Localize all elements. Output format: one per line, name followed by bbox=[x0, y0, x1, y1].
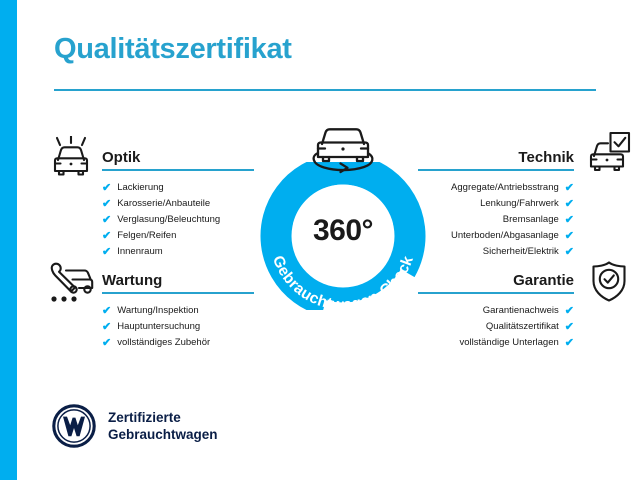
check-icon: ✔ bbox=[565, 215, 574, 226]
list-item: Garantienachweis✔ bbox=[418, 303, 574, 319]
list-item: ✔Felgen/Reifen bbox=[102, 228, 254, 244]
check-icon: ✔ bbox=[102, 247, 111, 258]
list-item-label: Wartung/Inspektion bbox=[117, 303, 199, 319]
list-item-label: Sicherheit/Elektrik bbox=[483, 244, 559, 260]
section-title-garantie: Garantie bbox=[513, 272, 574, 289]
list-item-label: Aggregate/Antriebsstrang bbox=[451, 180, 559, 196]
checklist-wartung: ✔Wartung/Inspektion ✔Hauptuntersuchung ✔… bbox=[102, 303, 254, 351]
badge-center-label: 360° bbox=[255, 214, 431, 248]
footer-brand: Zertifizierte Gebrauchtwagen bbox=[52, 404, 218, 448]
title-divider bbox=[54, 89, 596, 91]
list-item-label: vollständiges Zubehör bbox=[117, 335, 210, 351]
page-title: Qualitätszertifikat bbox=[54, 34, 292, 66]
section-header: Garantie bbox=[418, 265, 574, 291]
footer-line-2: Gebrauchtwagen bbox=[108, 426, 218, 443]
section-title-optik: Optik bbox=[102, 149, 140, 166]
car-shine-icon bbox=[48, 136, 94, 185]
check-icon: ✔ bbox=[102, 215, 111, 226]
check-icon: ✔ bbox=[102, 306, 111, 317]
list-item-label: Innenraum bbox=[117, 244, 162, 260]
footer-line-1: Zertifizierte bbox=[108, 409, 218, 426]
check-icon: ✔ bbox=[102, 231, 111, 242]
section-divider bbox=[418, 292, 574, 294]
section-header: Wartung bbox=[102, 265, 254, 291]
list-item: ✔Karosserie/Anbauteile bbox=[102, 196, 254, 212]
list-item: ✔Wartung/Inspektion bbox=[102, 303, 254, 319]
list-item-label: Hauptuntersuchung bbox=[117, 319, 200, 335]
certificate-page: Qualitätszertifikat bbox=[0, 0, 640, 480]
car-rotate-360-icon bbox=[308, 122, 378, 184]
list-item-label: Karosserie/Anbauteile bbox=[117, 196, 210, 212]
checklist-optik: ✔Lackierung ✔Karosserie/Anbauteile ✔Verg… bbox=[102, 180, 254, 260]
checklist-technik: Aggregate/Antriebsstrang✔ Lenkung/Fahrwe… bbox=[418, 180, 574, 260]
section-garantie: Garantie Garantienachweis✔ Qualitätszert… bbox=[418, 265, 574, 351]
section-header: Optik bbox=[102, 142, 254, 168]
check-icon: ✔ bbox=[565, 199, 574, 210]
list-item: ✔Lackierung bbox=[102, 180, 254, 196]
list-item: ✔Innenraum bbox=[102, 244, 254, 260]
check-icon: ✔ bbox=[565, 322, 574, 333]
list-item-label: Lackierung bbox=[117, 180, 163, 196]
left-accent-stripe bbox=[0, 0, 17, 480]
check-icon: ✔ bbox=[102, 199, 111, 210]
badge-360-gebrauchtwagen-check: Gebrauchtwagen-Check 360° bbox=[255, 122, 431, 310]
check-icon: ✔ bbox=[102, 183, 111, 194]
list-item: Sicherheit/Elektrik✔ bbox=[418, 244, 574, 260]
section-header: Technik bbox=[418, 142, 574, 168]
check-icon: ✔ bbox=[565, 231, 574, 242]
list-item: ✔vollständiges Zubehör bbox=[102, 335, 254, 351]
list-item: Aggregate/Antriebsstrang✔ bbox=[418, 180, 574, 196]
list-item-label: Garantienachweis bbox=[483, 303, 559, 319]
footer-brand-text: Zertifizierte Gebrauchtwagen bbox=[108, 409, 218, 443]
section-wartung: Wartung ✔Wartung/Inspektion ✔Hauptunters… bbox=[102, 265, 254, 351]
shield-check-icon bbox=[589, 259, 629, 308]
section-divider bbox=[102, 292, 254, 294]
list-item: Qualitätszertifikat✔ bbox=[418, 319, 574, 335]
list-item-label: Unterboden/Abgasanlage bbox=[451, 228, 559, 244]
list-item-label: Felgen/Reifen bbox=[117, 228, 176, 244]
volkswagen-logo bbox=[52, 404, 96, 448]
list-item: Unterboden/Abgasanlage✔ bbox=[418, 228, 574, 244]
section-technik: Technik Aggregate/Antriebsstrang✔ Lenkun… bbox=[418, 142, 574, 260]
list-item: ✔Verglasung/Beleuchtung bbox=[102, 212, 254, 228]
section-divider bbox=[418, 169, 574, 171]
list-item-label: Qualitätszertifikat bbox=[486, 319, 559, 335]
list-item-label: Lenkung/Fahrwerk bbox=[480, 196, 559, 212]
section-optik: Optik ✔Lackierung ✔Karosserie/Anbauteile… bbox=[102, 142, 254, 260]
list-item: ✔Hauptuntersuchung bbox=[102, 319, 254, 335]
car-checkbox-icon bbox=[586, 130, 632, 179]
list-item-label: vollständige Unterlagen bbox=[459, 335, 558, 351]
section-title-wartung: Wartung bbox=[102, 272, 162, 289]
list-item: vollständige Unterlagen✔ bbox=[418, 335, 574, 351]
list-item: Lenkung/Fahrwerk✔ bbox=[418, 196, 574, 212]
checklist-garantie: Garantienachweis✔ Qualitätszertifikat✔ v… bbox=[418, 303, 574, 351]
car-wrench-icon bbox=[48, 260, 96, 309]
check-icon: ✔ bbox=[565, 338, 574, 349]
section-divider bbox=[102, 169, 254, 171]
check-icon: ✔ bbox=[102, 322, 111, 333]
check-icon: ✔ bbox=[565, 183, 574, 194]
section-title-technik: Technik bbox=[518, 149, 574, 166]
check-icon: ✔ bbox=[102, 338, 111, 349]
check-icon: ✔ bbox=[565, 306, 574, 317]
list-item-label: Verglasung/Beleuchtung bbox=[117, 212, 220, 228]
check-icon: ✔ bbox=[565, 247, 574, 258]
list-item-label: Bremsanlage bbox=[503, 212, 559, 228]
list-item: Bremsanlage✔ bbox=[418, 212, 574, 228]
